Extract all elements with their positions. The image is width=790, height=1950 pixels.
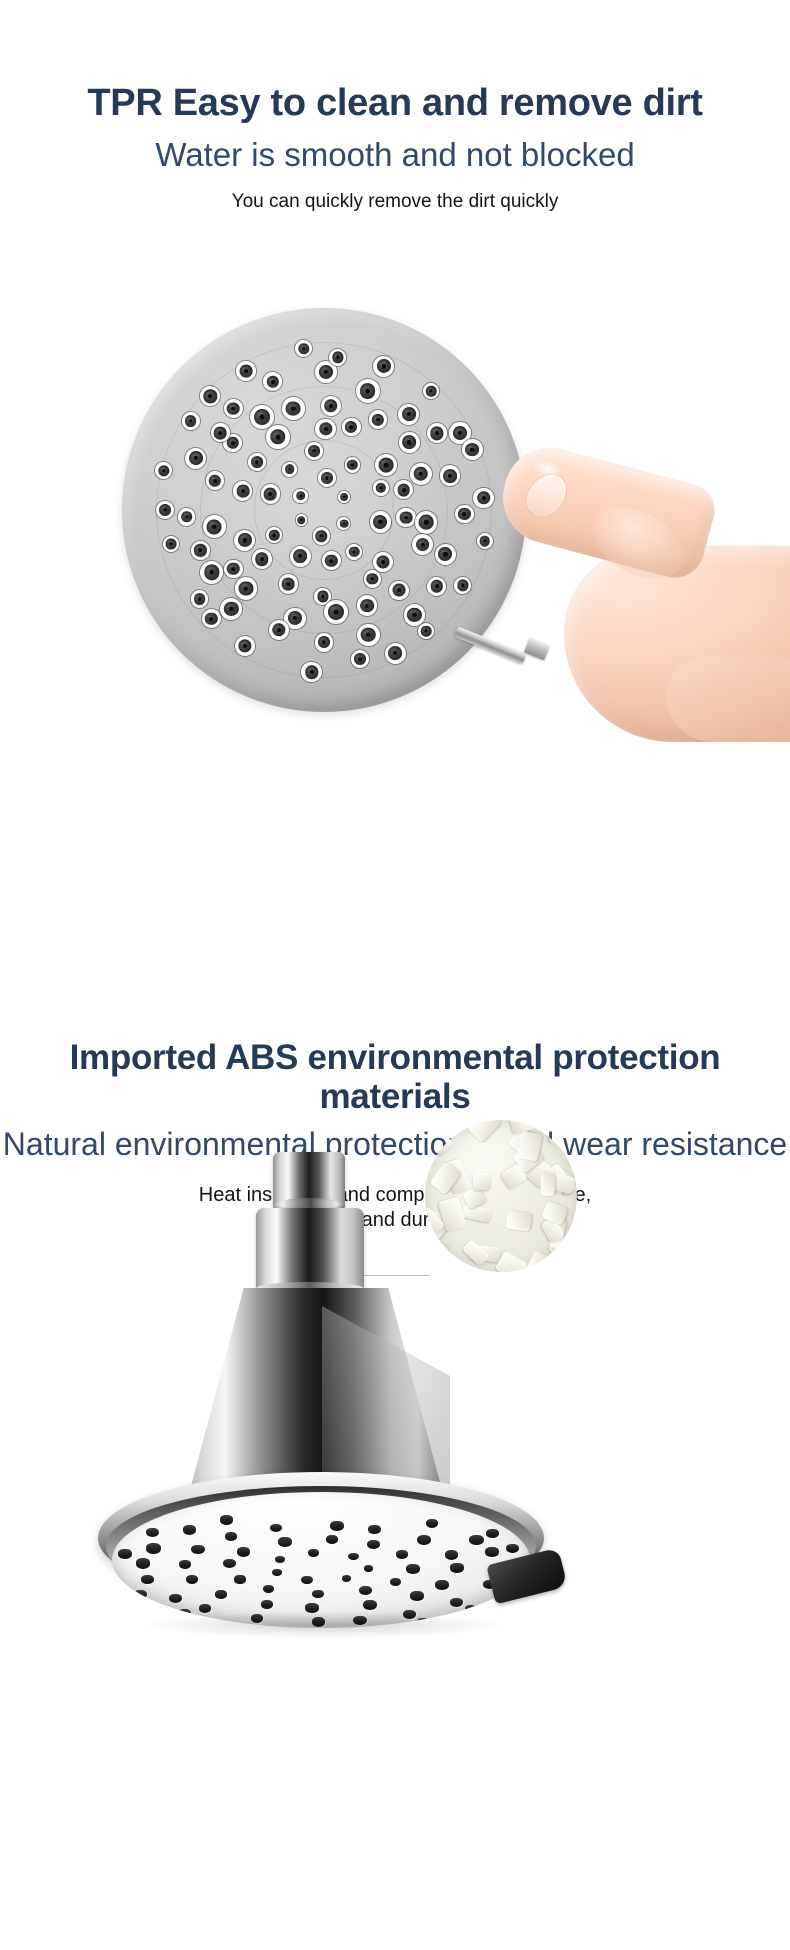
shower-nozzle [396, 508, 415, 527]
shower-nozzle [200, 386, 220, 406]
tpr-jet [223, 1559, 236, 1569]
tpr-jet [261, 1600, 273, 1609]
tpr-jet [367, 1540, 380, 1549]
shower-nozzle [324, 600, 348, 624]
section-1-heading: TPR Easy to clean and remove dirt [0, 82, 790, 125]
shower-nozzle [163, 536, 180, 553]
tpr-jet [272, 1569, 282, 1576]
shower-face-illustration [122, 308, 526, 722]
shower-nozzle [235, 636, 255, 656]
tpr-jet [312, 1590, 324, 1598]
abs-pellet [546, 1120, 565, 1145]
shower-nozzle [263, 372, 282, 391]
shower-nozzle [178, 508, 196, 526]
shower-nozzle [248, 453, 266, 471]
tpr-jet [136, 1558, 150, 1568]
shower-nozzle [191, 590, 209, 608]
shower-nozzle [322, 551, 341, 570]
tpr-jet [169, 1594, 182, 1604]
pointing-hand-illustration [470, 472, 790, 740]
abs-pellet [466, 1120, 501, 1142]
tpr-jet [179, 1560, 192, 1569]
shower-nozzle [315, 419, 335, 439]
shower-nozzle [191, 541, 210, 560]
abs-pellet [524, 1250, 550, 1272]
shower-nozzle [375, 454, 397, 476]
tpr-jet [359, 1586, 372, 1595]
shower-nozzle [155, 462, 172, 479]
tpr-jet [450, 1563, 463, 1573]
shower-nozzle [156, 501, 174, 519]
abs-pellets-callout-bubble [425, 1120, 577, 1272]
shower-nozzle [462, 439, 483, 460]
shower-nozzle [418, 623, 434, 639]
shower-nozzle [282, 462, 297, 477]
shower-nozzle [337, 517, 350, 530]
tpr-jet [326, 1535, 338, 1544]
abs-pellet [495, 1251, 529, 1272]
shower-nozzle [261, 484, 280, 503]
tpr-jet [183, 1525, 196, 1535]
tpr-jet [146, 1528, 159, 1538]
shower-nozzle [279, 574, 298, 593]
shower-neck [256, 1208, 364, 1292]
shower-nozzle [282, 397, 305, 420]
shower-nozzle [266, 527, 282, 543]
tpr-jet [225, 1532, 237, 1541]
shower-nozzle [427, 423, 447, 443]
shower-nozzle [345, 457, 361, 473]
shower-nozzle [220, 598, 242, 620]
shower-nozzle [346, 544, 362, 560]
tpr-jet [486, 1529, 499, 1538]
shower-nozzle [385, 643, 406, 664]
tpr-jet [134, 1590, 147, 1599]
shower-nozzle [269, 620, 289, 640]
tpr-jet [215, 1590, 227, 1599]
shower-nozzle [233, 481, 252, 500]
shower-nozzle [370, 511, 391, 532]
shower-nozzle [234, 530, 255, 551]
shower-nozzle [236, 361, 255, 380]
tpr-jet [410, 1591, 424, 1601]
shower-nozzle [427, 577, 446, 596]
shower-nozzle [357, 595, 378, 616]
shower-nozzle [250, 405, 274, 429]
tpr-jet [435, 1580, 449, 1590]
shower-nozzle [373, 356, 394, 377]
tpr-jet [263, 1585, 274, 1593]
abs-pellet [505, 1211, 531, 1232]
tpr-jet [278, 1537, 292, 1547]
shower-nozzle [412, 534, 433, 555]
tpr-jet [301, 1576, 312, 1584]
tpr-jet [199, 1604, 211, 1613]
shower-nozzle [200, 561, 223, 584]
abs-pellet [461, 1204, 492, 1223]
shower-nozzle [224, 560, 243, 579]
shower-nozzle [440, 465, 461, 486]
product-feature-page: TPR Easy to clean and remove dirt Water … [0, 0, 790, 1950]
tpr-jet [275, 1556, 285, 1563]
shower-nozzle [252, 549, 272, 569]
abs-pellet [472, 1173, 489, 1190]
section-1-subheading: Water is smooth and not blocked [0, 136, 790, 174]
shower-nozzle [293, 489, 308, 504]
tpr-jet [364, 1565, 373, 1572]
tpr-jet [390, 1578, 401, 1586]
shower-nozzle [398, 404, 419, 425]
shower-nozzle [357, 624, 379, 646]
shower-nozzle [351, 650, 369, 668]
shower-nozzle [410, 463, 432, 485]
shower-nozzle [224, 399, 243, 418]
tpr-jet [330, 1521, 344, 1531]
tpr-jet [220, 1515, 233, 1524]
section-1-body: You can quickly remove the dirt quickly [0, 190, 790, 213]
tpr-jet [426, 1519, 438, 1528]
tpr-jet [485, 1547, 498, 1557]
tpr-jet [118, 1549, 132, 1559]
shower-nozzle [305, 442, 323, 460]
shower-nozzle [364, 570, 381, 587]
shower-nozzle [369, 410, 388, 429]
shower-nozzle [185, 448, 206, 469]
shower-spray-plate [112, 1492, 530, 1628]
tpr-jet [445, 1550, 458, 1560]
shower-nozzle [338, 491, 350, 503]
shower-nozzle [301, 662, 321, 682]
tpr-jet [469, 1535, 484, 1546]
abs-pellet [425, 1127, 453, 1156]
tpr-jet [342, 1575, 352, 1582]
shower-nozzle [235, 577, 258, 600]
shower-nozzle [435, 544, 456, 565]
abs-pellet [541, 1172, 555, 1196]
shower-nozzle [202, 609, 221, 628]
shower-nozzle [318, 469, 336, 487]
shower-nozzle [290, 546, 311, 567]
tpr-jet [465, 1605, 476, 1613]
thumb-shape [666, 658, 790, 742]
shower-head-product-illustration [90, 1120, 700, 1940]
shower-nozzle [394, 480, 413, 499]
tpr-jet [270, 1524, 282, 1533]
tpr-jet [506, 1544, 519, 1553]
tpr-jet [396, 1550, 408, 1559]
tpr-jet [406, 1564, 420, 1574]
shower-nozzle [389, 581, 409, 601]
tpr-jet [191, 1545, 204, 1555]
shower-nozzle [415, 511, 437, 533]
tpr-jet [368, 1525, 381, 1534]
shower-nozzle [454, 577, 471, 594]
shower-nozzle [321, 396, 341, 416]
shower-nozzle [356, 379, 380, 403]
tpr-jet [141, 1575, 154, 1584]
shower-nozzle [423, 383, 439, 399]
shower-nozzle [329, 349, 346, 366]
shower-nozzle [295, 340, 312, 357]
shower-nozzle [399, 432, 420, 453]
tpr-jet [146, 1543, 161, 1554]
section-2-heading: Imported ABS environmental protection ma… [0, 1038, 790, 1116]
section-tpr-easy-clean-text: TPR Easy to clean and remove dirt Water … [0, 82, 790, 213]
abs-pellet [461, 1239, 489, 1267]
shower-nozzle [206, 471, 225, 490]
shower-face-disc [122, 308, 526, 712]
product-contact-shadow [146, 1612, 502, 1638]
tpr-jet [363, 1600, 377, 1610]
shower-nozzle [203, 515, 226, 538]
shower-nozzle [182, 412, 200, 430]
shower-nozzle [342, 418, 360, 436]
shower-nozzle [373, 552, 393, 572]
shower-nozzle [313, 527, 330, 544]
shower-nozzle [266, 425, 289, 448]
tpr-jet [450, 1598, 463, 1608]
tpr-jet [237, 1547, 250, 1556]
tpr-jet [186, 1575, 199, 1584]
tpr-jet [417, 1535, 432, 1545]
shower-nozzle [373, 480, 389, 496]
tpr-jet [308, 1549, 319, 1557]
tpr-jet [348, 1553, 359, 1561]
shower-nozzle [296, 514, 308, 526]
tpr-jet [234, 1575, 245, 1583]
shower-nozzle [315, 633, 333, 651]
